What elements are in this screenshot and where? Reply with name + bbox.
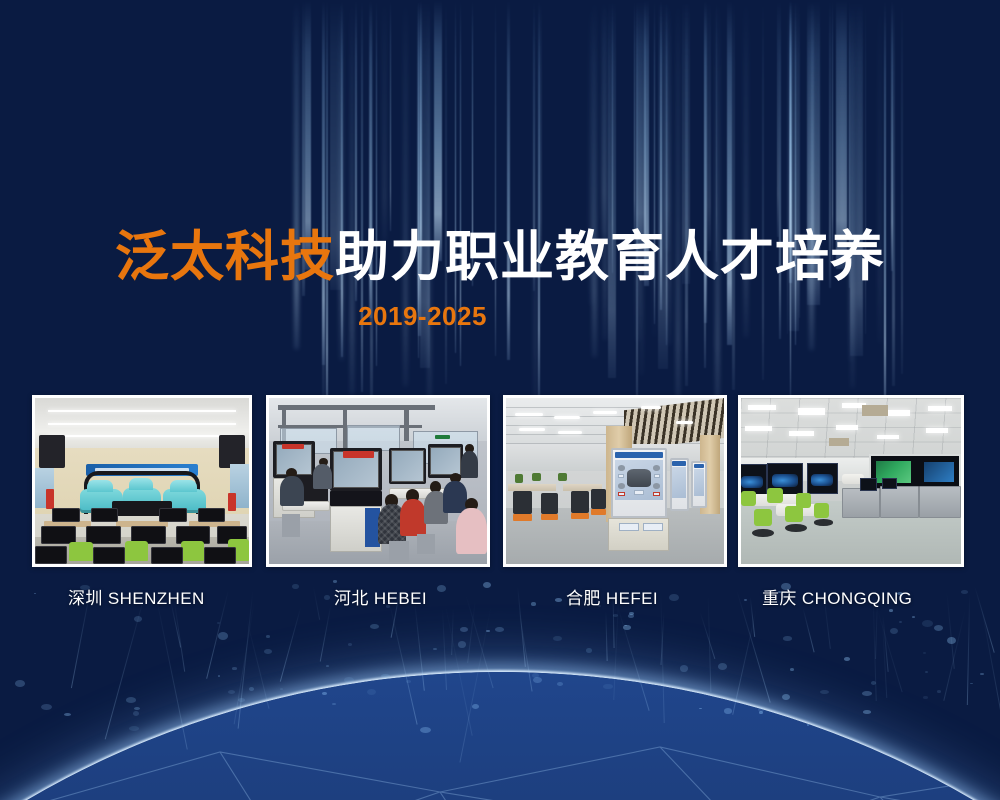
falling-streak xyxy=(442,609,447,690)
particle-dot xyxy=(586,648,592,653)
falling-streak xyxy=(967,594,970,705)
light-ray xyxy=(434,0,443,261)
subtitle-year-range: 2019-2025 xyxy=(0,301,1000,332)
particle-dot xyxy=(603,684,613,689)
particle-dot xyxy=(324,595,330,600)
particle-dot xyxy=(718,663,727,670)
particle-dot xyxy=(820,690,829,694)
photo-image-chongqing xyxy=(741,398,961,564)
photo-image-shenzhen xyxy=(35,398,249,564)
particle-dot xyxy=(232,667,237,670)
light-ray xyxy=(842,0,843,263)
photo-gallery xyxy=(0,395,1000,567)
light-ray xyxy=(603,0,605,235)
falling-streak xyxy=(612,588,614,648)
gallery-photo-hefei[interactable] xyxy=(503,395,727,567)
falling-streak xyxy=(518,609,532,691)
gallery-photo-shenzhen[interactable] xyxy=(32,395,252,567)
falling-streak xyxy=(605,611,607,661)
particle-dot xyxy=(724,708,732,714)
brand-name: 泛太科技 xyxy=(115,227,335,287)
falling-streak xyxy=(974,586,994,652)
particle-dot xyxy=(533,677,542,683)
light-ray xyxy=(326,0,328,426)
light-ray xyxy=(706,0,711,251)
particle-dot xyxy=(744,599,747,601)
particle-dot xyxy=(495,627,504,632)
light-ray xyxy=(384,0,385,241)
falling-streak xyxy=(280,607,301,682)
particle-dot xyxy=(326,665,329,667)
particle-dot xyxy=(980,673,984,675)
particle-dot xyxy=(472,704,479,709)
particle-dot xyxy=(961,590,968,594)
light-ray xyxy=(370,0,373,418)
particle-dot xyxy=(598,605,601,607)
particle-dot xyxy=(669,594,679,601)
particle-dot xyxy=(531,602,536,606)
photo-image-hefei xyxy=(506,398,724,564)
particle-dot xyxy=(433,648,437,650)
particle-dot xyxy=(778,591,781,593)
particle-dot xyxy=(758,707,764,712)
particle-dot xyxy=(925,671,928,673)
falling-streak xyxy=(981,606,1000,760)
particle-dot xyxy=(381,674,390,678)
particle-dot xyxy=(899,621,902,623)
falling-streak xyxy=(943,610,965,701)
falling-streak xyxy=(105,591,147,740)
particle-dot xyxy=(553,636,562,641)
particle-dot xyxy=(64,713,71,716)
light-ray xyxy=(322,0,325,398)
particle-dot xyxy=(934,625,943,631)
particle-dot xyxy=(844,657,850,661)
particle-dot xyxy=(923,652,926,654)
falling-streak xyxy=(467,600,476,663)
particle-dot xyxy=(133,711,139,716)
falling-streak xyxy=(822,585,831,649)
particle-field xyxy=(0,580,1000,800)
light-ray xyxy=(351,0,353,395)
particle-dot xyxy=(460,627,468,632)
particle-dot xyxy=(922,620,933,627)
particle-dot xyxy=(348,643,352,646)
particle-dot xyxy=(458,641,466,648)
particle-dot xyxy=(790,668,794,671)
particle-dot xyxy=(937,690,941,693)
particle-dot xyxy=(344,677,354,683)
particle-dot xyxy=(264,649,272,654)
light-ray xyxy=(390,0,391,231)
particle-dot xyxy=(483,582,491,588)
light-ray xyxy=(361,0,364,392)
particle-dot xyxy=(437,585,446,592)
particle-dot xyxy=(15,680,25,687)
particle-dot xyxy=(266,635,270,638)
particle-dot xyxy=(322,692,327,695)
falling-streak xyxy=(736,590,770,702)
particle-dot xyxy=(863,710,871,714)
falling-streak xyxy=(389,604,417,724)
falling-streak xyxy=(444,602,472,735)
particle-dot xyxy=(680,665,688,672)
particle-dot xyxy=(80,585,90,590)
falling-streak xyxy=(414,602,425,691)
light-ray xyxy=(884,0,886,419)
gallery-photo-hebei[interactable] xyxy=(266,395,490,567)
falling-streak xyxy=(238,590,254,728)
light-ray xyxy=(777,0,779,237)
particle-dot xyxy=(249,687,254,691)
particle-dot xyxy=(134,707,140,710)
particle-dot xyxy=(912,616,915,618)
particle-dot xyxy=(862,691,872,696)
title-block: 泛太科技助力职业教育人才培养 2019-2025 xyxy=(0,228,1000,332)
particle-dot xyxy=(367,689,376,695)
light-rays-background xyxy=(0,0,1000,430)
particle-dot xyxy=(218,675,220,677)
falling-streak xyxy=(71,583,92,688)
particle-dot xyxy=(41,704,52,710)
particle-dot xyxy=(34,593,36,594)
falling-streak xyxy=(155,594,187,749)
particle-dot xyxy=(923,696,928,699)
falling-streak xyxy=(174,601,185,671)
particle-dot xyxy=(333,580,337,583)
particle-dot xyxy=(218,632,228,640)
promotional-banner: 泛太科技助力职业教育人才培养 2019-2025 xyxy=(0,0,1000,800)
particle-dot xyxy=(332,703,336,705)
falling-streak xyxy=(802,608,814,653)
light-ray xyxy=(677,0,679,415)
gallery-photo-chongqing[interactable] xyxy=(738,395,964,567)
particle-dot xyxy=(280,688,283,690)
particle-dot xyxy=(292,584,299,589)
particle-dot xyxy=(807,724,809,726)
particle-dot xyxy=(782,694,790,700)
falling-streak xyxy=(617,607,649,711)
falling-streak xyxy=(875,596,878,659)
light-ray xyxy=(832,0,834,261)
title-tagline: 助力职业教育人才培养 xyxy=(335,227,885,287)
particle-dot xyxy=(228,690,235,694)
particle-dot xyxy=(781,583,791,590)
main-title: 泛太科技助力职业教育人才培养 xyxy=(0,228,1000,287)
photo-image-hebei xyxy=(269,398,487,564)
particle-dot xyxy=(557,682,563,686)
falling-streak xyxy=(313,586,320,620)
particle-dot xyxy=(555,598,562,602)
particle-dot xyxy=(889,609,893,612)
light-ray xyxy=(716,0,719,420)
particle-dot xyxy=(370,624,379,629)
particle-dot xyxy=(783,636,792,641)
falling-streak xyxy=(246,616,270,708)
light-ray xyxy=(538,0,540,402)
particle-dot xyxy=(890,628,898,634)
particle-dot xyxy=(897,592,903,595)
particle-dot xyxy=(126,697,136,703)
falling-streak xyxy=(320,605,331,661)
particle-dot xyxy=(699,708,702,709)
particle-dot xyxy=(420,727,431,733)
particle-dot xyxy=(129,726,139,731)
particle-dot xyxy=(970,683,973,684)
